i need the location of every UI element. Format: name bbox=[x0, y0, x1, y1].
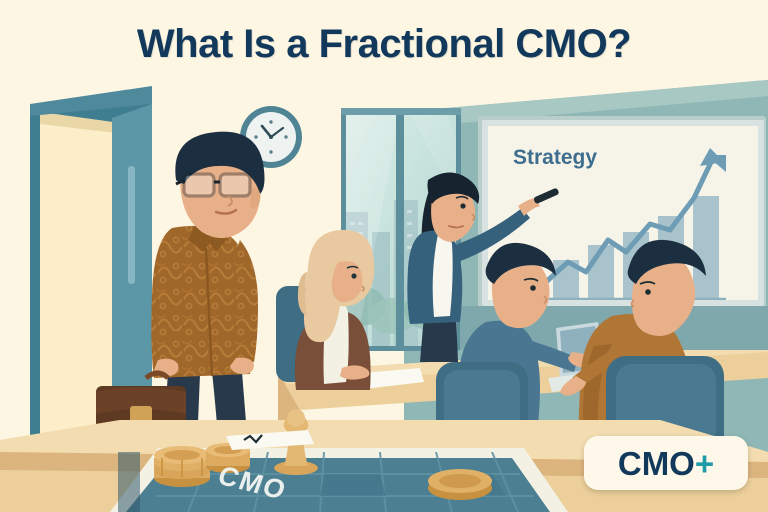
logo-text: CMO bbox=[618, 447, 695, 480]
coin-stack-left bbox=[154, 446, 210, 487]
glasses bbox=[176, 174, 250, 196]
coin-single bbox=[428, 469, 492, 500]
briefcase-latch bbox=[130, 406, 152, 422]
table-leg bbox=[118, 452, 140, 512]
logo-plus-icon: + bbox=[695, 447, 714, 480]
illustration-canvas: What Is a Fractional CMO? Strategy CMO C… bbox=[0, 0, 768, 512]
logo-badge[interactable]: CMO+ bbox=[584, 436, 748, 490]
whiteboard-label: Strategy bbox=[513, 146, 597, 170]
